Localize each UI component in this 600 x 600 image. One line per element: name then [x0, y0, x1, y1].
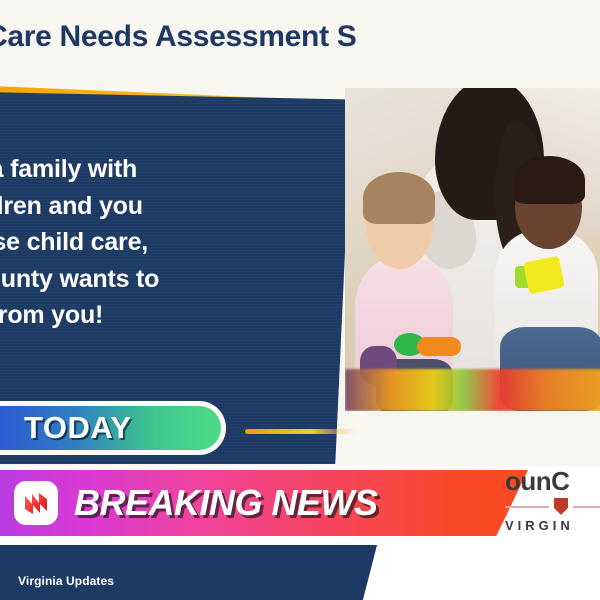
source-label: Virginia Updates — [18, 574, 114, 588]
newsbreak-logo-icon — [14, 481, 58, 525]
footer-panel — [0, 545, 377, 600]
county-name-text: ounC — [505, 468, 600, 494]
divider-line-right — [573, 506, 600, 508]
photo-toy-blocks-row — [345, 369, 600, 411]
photo-toddler-left-hair — [363, 172, 435, 224]
caregiver-with-toddlers-photo — [345, 88, 600, 411]
divider-line-left — [505, 506, 549, 508]
gold-rule-accent — [245, 429, 357, 434]
page-title: Care Needs Assessment S — [0, 18, 600, 56]
body-line-5: ear from you! — [0, 298, 306, 333]
body-line-1: are a family with — [0, 152, 306, 187]
logo-divider — [505, 498, 600, 515]
breaking-news-banner: BREAKING NEWS — [0, 470, 528, 536]
county-state-text: VIRGIN — [505, 518, 600, 533]
breaking-news-label: BREAKING NEWS — [74, 482, 378, 524]
loudoun-county-logo: ounC VIRGIN — [505, 462, 600, 540]
body-line-3: or use child care, — [0, 225, 306, 260]
article-body-copy: are a family with children and you or us… — [0, 152, 306, 335]
today-badge-label: TODAY — [24, 410, 132, 446]
body-line-2: children and you — [0, 189, 306, 224]
photo-toy-orange — [417, 337, 461, 356]
today-badge: TODAY — [0, 401, 226, 455]
shield-icon — [554, 498, 568, 515]
body-line-4: n County wants to — [0, 262, 306, 297]
screenshot-canvas: Care Needs Assessment S are a family wit… — [0, 0, 600, 600]
photo-toddler-right-hair — [513, 156, 585, 204]
